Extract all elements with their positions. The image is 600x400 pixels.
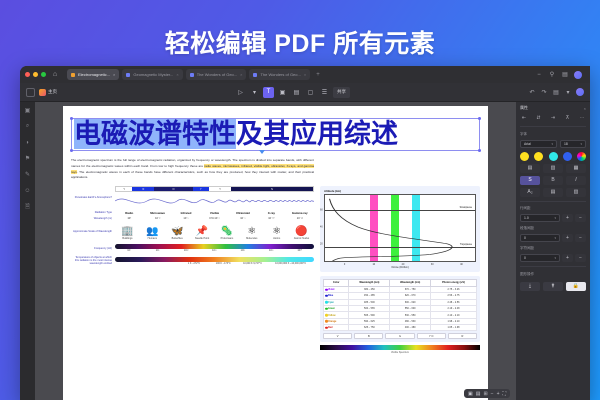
frequency-label: Frequency (Hz)	[71, 247, 115, 250]
radiation-type-row: Radiation Type Radio Microwave Infrared …	[71, 211, 314, 215]
wavelength-label: Wavelength (m)	[71, 217, 115, 220]
color-name: Cyan	[328, 301, 334, 304]
increase-icon[interactable]: +	[562, 234, 573, 242]
radiation-type-label: Radiation Type	[71, 211, 115, 214]
freq-tick: 10²⁰	[286, 249, 314, 252]
color-name: Yellow	[328, 314, 335, 317]
band-name: Microwave	[143, 211, 171, 215]
share-button[interactable]: 共享	[333, 87, 350, 98]
font-section-label: 字体	[520, 132, 586, 137]
new-tab-button[interactable]: +	[313, 72, 323, 78]
wavelength-value: 10⁻⁵	[172, 217, 200, 220]
frequency-row: Frequency (Hz) 10⁴ 10⁸ 10¹² 10¹⁵ 10¹⁶	[71, 244, 314, 252]
color-table: Color Wavelength (nm) Wavelength (nm) Ph…	[323, 279, 477, 331]
increase-icon[interactable]: +	[562, 214, 573, 222]
chevron-down-icon: ▾	[554, 216, 556, 220]
color-name: Violet	[328, 288, 334, 291]
tab-favicon-icon	[126, 73, 130, 77]
legend-chip-blue: B	[354, 333, 383, 339]
scale-name: Buildings	[115, 237, 140, 240]
scale-label: Approximate Scale of Wavelength	[71, 230, 115, 233]
format-row-1: ▤ ▥ ▦	[520, 164, 586, 173]
legend-chip-green: G	[385, 333, 414, 339]
minimize-icon[interactable]: −	[535, 71, 543, 79]
band-name: Gamma ray	[286, 211, 314, 215]
home-icon[interactable]: ⌂	[50, 70, 60, 80]
temp-tick: 10,000,000 K ~10,000,000°C	[267, 262, 314, 265]
search-icon[interactable]: ⌕	[23, 122, 32, 131]
freq-tick: 10⁸	[143, 249, 171, 252]
home-tab-button[interactable]: 主页	[39, 89, 57, 96]
sidebar-toggle-icon[interactable]	[26, 88, 35, 97]
align-justify-icon[interactable]: ⊼	[564, 114, 572, 122]
bookmark-icon[interactable]: ⚑	[23, 154, 32, 163]
line-spacing-label: 段落间距	[520, 226, 586, 231]
scale-name: Atomic Nuclei	[289, 237, 314, 240]
protozoa-icon: 🦠	[215, 227, 240, 237]
swatch-yellow-1[interactable]	[520, 152, 529, 161]
col-header-color: Color	[324, 280, 349, 287]
cell-w2: 400 – 480	[390, 325, 431, 331]
tab-close-icon[interactable]: ×	[240, 72, 242, 77]
para-spacing-stepper: 0▾ + −	[520, 254, 586, 262]
app-window: ⌂ Electromagnetic... × Geomagnetic Myste…	[20, 66, 590, 400]
temp-tick: 10,000 K 9,727°C	[238, 262, 267, 265]
align-right-icon[interactable]: ⇥	[549, 114, 557, 122]
align-right-icon[interactable]: ▦	[566, 164, 586, 173]
window-body: ▣ ⌕ ◗ ⚑ ✎ ☺ 🗎 电磁波谱特性及其应用综述 The electroma…	[20, 102, 590, 400]
tab-favicon-icon	[253, 73, 257, 77]
waveform-graphic	[115, 192, 314, 209]
resize-handle-tr[interactable]	[478, 117, 481, 120]
right-figures: Altitude (km) 60 40 20 Stratopause Tropo…	[320, 186, 480, 354]
titlebar-actions: − ⚲ ▤	[535, 71, 585, 79]
tab-favicon-icon	[190, 73, 194, 77]
zoom-in-icon[interactable]: +	[497, 391, 500, 397]
legend-chip-red: R	[448, 333, 477, 339]
atmos-seg: N	[132, 187, 154, 191]
tab-label: Electromagnetic...	[78, 72, 110, 77]
close-panel-icon[interactable]: ×	[584, 106, 586, 111]
color-swatch-icon	[325, 314, 328, 317]
save-icon[interactable]: ▤	[552, 88, 560, 96]
scale-name: Butterflies	[165, 237, 190, 240]
decrease-icon[interactable]: −	[575, 254, 586, 262]
temp-tick: 1 K −272°C	[179, 262, 208, 265]
band-name: Visible	[200, 211, 228, 215]
text-caret-icon	[259, 150, 265, 154]
select-icon[interactable]: ▤	[476, 391, 481, 397]
divider	[520, 266, 586, 267]
page-indicator[interactable]: ⊞	[483, 391, 487, 397]
temperature-ticks: 1 K −272°C 100 K −173°C 10,000 K 9,727°C…	[115, 262, 314, 265]
freq-tick: 10¹⁶	[229, 249, 257, 252]
band-name: Infrared	[172, 211, 200, 215]
legend-chip-yellow-orange: Y O	[417, 333, 446, 339]
align-toolbar: ⇤ ⇵ ⇥ ⊼ ⋯	[520, 114, 586, 122]
align-left-icon[interactable]: ⇤	[520, 114, 528, 122]
font-family-select[interactable]: Arial▾	[520, 140, 557, 148]
ozone-ytick: 20	[320, 242, 323, 245]
comment-icon[interactable]: ☺	[23, 186, 32, 195]
freq-tick: 10⁴	[115, 249, 143, 252]
wavelength-value: 10⁻⁸	[229, 217, 257, 220]
humans-icon: 👥	[140, 227, 165, 237]
needle-icon: 📌	[190, 227, 215, 237]
swatch-custom-color[interactable]	[577, 152, 586, 161]
format-row-3: A₂ ▤ ▥	[520, 188, 586, 197]
stamp-icon[interactable]: ▤	[291, 87, 302, 98]
redo-icon[interactable]: ↷	[540, 88, 548, 96]
app-logo-icon	[39, 89, 46, 96]
atmosphere-row: Penetrates Earth's Atmosphere? Y N N Y Y…	[71, 186, 314, 209]
ozone-plot: 60 40 20 Stratopause Tropopause	[324, 194, 476, 262]
decrease-icon[interactable]: −	[575, 234, 586, 242]
freq-tick: 10¹⁸	[257, 249, 285, 252]
scale-name: Molecules	[239, 237, 264, 240]
tab-close-icon[interactable]: ×	[176, 72, 178, 77]
temp-tick: 100 K −173°C	[209, 262, 238, 265]
image-edit-icon[interactable]: ▣	[277, 87, 288, 98]
waveform-icon	[115, 192, 314, 209]
ozone-xtick: 30	[418, 263, 447, 266]
page-title: 轻松编辑 PDF 所有元素	[0, 24, 600, 60]
char-spacing-stepper: 1.0▾ + −	[520, 214, 586, 222]
page-controls[interactable]: ▣ ▤ ⊞ − + ⛶	[464, 389, 510, 398]
align-left-icon[interactable]: ▤	[520, 164, 540, 173]
strikethrough-icon[interactable]: S	[520, 176, 540, 185]
increase-icon[interactable]: +	[562, 254, 573, 262]
font-row: Arial▾ 18▾	[520, 140, 586, 148]
attachment-icon[interactable]: 🗎	[23, 202, 32, 211]
tab-close-icon[interactable]: ×	[304, 72, 306, 77]
color-swatch-icon	[325, 326, 328, 329]
panel-title: 属性	[520, 105, 528, 111]
temperature-row: Temperature of objects at which this rad…	[71, 256, 314, 265]
butterfly-icon: 🦋	[165, 227, 190, 237]
divider	[520, 201, 586, 202]
molecule-icon: ⚛	[239, 227, 264, 237]
atmos-seg: Y	[193, 187, 209, 191]
toolbar-right: ↶ ↷ ▤ ▾	[528, 88, 584, 96]
toolbar-left: 主页	[26, 88, 57, 97]
main-toolbar: 主页 ▷ ▾ T ▣ ▤ ▢ ☰ 共享 ↶ ↷ ▤ ▾	[20, 83, 590, 102]
format-row-2: S B I	[520, 176, 586, 185]
ozone-ytick: 40	[320, 225, 323, 228]
ai-icon[interactable]	[576, 88, 584, 96]
font-size-select[interactable]: 18▾	[560, 140, 586, 148]
atmos-seg: N	[154, 187, 192, 191]
resize-handle-bl[interactable]	[70, 149, 73, 152]
char-spacing-label: 行间距	[520, 206, 586, 211]
pages-icon[interactable]: ◗	[23, 138, 32, 147]
color-swatch-icon	[325, 320, 328, 323]
filter-icon[interactable]: ⚵	[543, 282, 563, 291]
chevron-down-icon[interactable]: ▾	[564, 88, 572, 96]
italic-icon[interactable]: I	[566, 176, 586, 185]
paragraph-part2: . The electromagnetic waves in each of t…	[71, 170, 314, 180]
col-header-energy: Photon energy (eV)	[431, 280, 477, 287]
ozone-xtick: 10	[359, 263, 388, 266]
undo-icon[interactable]: ↶	[528, 88, 536, 96]
color-name: Blue	[328, 294, 333, 297]
atom-icon: ⚛	[264, 227, 289, 237]
color-swatch-row	[520, 152, 586, 161]
divider	[520, 126, 586, 127]
line-spacing-stepper: 0▾ + −	[520, 234, 586, 242]
lock-icon[interactable]: 🔒	[566, 282, 586, 291]
align-center-icon[interactable]: ⇵	[535, 114, 543, 122]
outdent-icon[interactable]: ▥	[566, 188, 586, 197]
char-spacing-value[interactable]: 1.0▾	[520, 214, 560, 222]
chevron-down-icon: ▾	[554, 256, 556, 260]
fit-icon[interactable]: ▣	[468, 391, 473, 397]
color-swatch-icon	[325, 307, 328, 310]
resize-handle-br[interactable]	[478, 149, 481, 152]
color-swatch-icon	[325, 288, 328, 291]
swatch-blue[interactable]	[563, 152, 572, 161]
tab-favicon-icon	[71, 73, 75, 77]
tab-3[interactable]: The Wonders of Geo... ×	[249, 69, 310, 80]
chevron-down-icon: ▾	[580, 142, 582, 146]
band-name: X-ray	[257, 211, 285, 215]
wavelength-values: 10³ 10⁻² 10⁻⁵ 0.5×10⁻⁶ 10⁻⁸ 10⁻¹⁰ 10⁻¹²	[115, 217, 314, 220]
page-icon[interactable]: ▢	[305, 87, 316, 98]
freq-tick: 10¹⁵	[200, 249, 228, 252]
tab-label: The Wonders of Geo...	[260, 72, 300, 77]
document-paragraph[interactable]: The electromagnetic spectrum is the full…	[71, 158, 314, 181]
list-icon[interactable]: ☰	[319, 87, 330, 98]
wavelength-row: Wavelength (m) 10³ 10⁻² 10⁻⁵ 0.5×10⁻⁶ 10…	[71, 217, 314, 220]
toolbar-center: ▷ ▾ T ▣ ▤ ▢ ☰ 共享	[235, 87, 350, 98]
atmos-seg: N	[231, 187, 313, 191]
subscript-icon[interactable]: A₂	[520, 188, 540, 197]
visible-spectrum-caption: Visible Spectrum	[320, 351, 480, 354]
cell-w1: 625 – 750	[349, 325, 390, 331]
color-name: Red	[328, 326, 333, 329]
document-title-selection[interactable]: 电磁波谱特性及其应用综述	[71, 118, 480, 151]
scale-name-list: Buildings Humans Butterflies Needle Poin…	[115, 237, 314, 240]
window-controls[interactable]	[25, 72, 46, 77]
panel-header: 属性 ×	[520, 105, 586, 111]
spectrum-legend-tools: V B G Y O R	[323, 333, 477, 339]
ozone-xtick: 40	[447, 263, 476, 266]
indent-icon[interactable]: ▤	[543, 188, 563, 197]
home-tab-label: 主页	[48, 89, 57, 95]
maximize-window-icon[interactable]	[41, 72, 46, 77]
close-window-icon[interactable]	[25, 72, 30, 77]
align-center-icon[interactable]: ▥	[543, 164, 563, 173]
swatch-cyan[interactable]	[549, 152, 558, 161]
atmos-seg: Y	[209, 187, 231, 191]
tab-label: The Wonders of Geo...	[197, 72, 237, 77]
ops-section-label: 图形操作	[520, 272, 586, 277]
ops-actions: ⤓ ⚵ 🔒	[520, 282, 586, 291]
color-name: Orange	[328, 320, 336, 323]
left-rail: ▣ ⌕ ◗ ⚑ ✎ ☺ 🗎	[20, 102, 35, 400]
edit-pen-icon[interactable]: ✎	[23, 170, 32, 179]
table-row: Red 625 – 750 400 – 480 1.65 – 1.98	[324, 325, 477, 331]
title-selected-text: 电磁波谱特性	[74, 119, 236, 149]
line-spacing-value[interactable]: 0▾	[520, 234, 560, 242]
titlebar: ⌂ Electromagnetic... × Geomagnetic Myste…	[20, 66, 590, 83]
tab-2[interactable]: The Wonders of Geo... ×	[186, 69, 247, 80]
minimize-window-icon[interactable]	[33, 72, 38, 77]
frequency-ticks: 10⁴ 10⁸ 10¹² 10¹⁵ 10¹⁶ 10¹⁸ 10²⁰	[115, 249, 314, 252]
table-header-row: Color Wavelength (nm) Wavelength (nm) Ph…	[324, 280, 477, 287]
freq-tick: 10¹²	[172, 249, 200, 252]
properties-panel: 属性 × ⇤ ⇵ ⇥ ⊼ ⋯ 字体 Arial▾ 18▾	[516, 102, 590, 400]
col-header-w1: Wavelength (nm)	[349, 280, 390, 287]
scale-icon-list: 🏢 👥 🦋 📌 🦠 ⚛ ⚛ 🔴	[115, 222, 314, 237]
pointer-icon[interactable]: ▷	[235, 87, 246, 98]
resize-handle-tl[interactable]	[70, 117, 73, 120]
swatch-yellow-2[interactable]	[534, 152, 543, 161]
thumbnail-icon[interactable]: ▣	[23, 106, 32, 115]
pdf-page[interactable]: 电磁波谱特性及其应用综述 The electromagnetic spectru…	[63, 106, 488, 400]
font-size-value: 18	[564, 142, 568, 146]
wavelength-value: 10⁻¹⁰	[257, 217, 285, 220]
bold-icon[interactable]: B	[543, 176, 563, 185]
color-swatch-icon	[325, 301, 328, 304]
para-spacing-value[interactable]: 0▾	[520, 254, 560, 262]
color-name: Green	[328, 307, 335, 310]
scale-name: Needle Point	[190, 237, 215, 240]
document-title[interactable]: 电磁波谱特性及其应用综述	[74, 120, 477, 149]
color-swatch-icon	[325, 295, 328, 298]
wavelength-value: 10⁻¹²	[286, 217, 314, 220]
buildings-icon: 🏢	[115, 227, 140, 237]
ozone-xlabel: Ozone (DU/km)	[324, 266, 476, 269]
scale-name: Protozoans	[215, 237, 240, 240]
tab-strip[interactable]: Electromagnetic... × Geomagnetic Myster.…	[67, 69, 531, 80]
visible-spectrum-bar	[320, 345, 480, 350]
download-icon[interactable]: ⤓	[520, 282, 540, 291]
temperature-label: Temperature of objects at which this rad…	[71, 256, 115, 265]
ozone-ytick: 60	[320, 208, 323, 211]
content-columns: Penetrates Earth's Atmosphere? Y N N Y Y…	[71, 186, 480, 354]
para-spacing-label: 字符间距	[520, 246, 586, 251]
layout-icon[interactable]: ▤	[561, 71, 569, 79]
text-edit-icon[interactable]: T	[263, 87, 274, 98]
decrease-icon[interactable]: −	[575, 214, 586, 222]
nucleus-icon: 🔴	[289, 227, 314, 237]
spectrum-figure: Penetrates Earth's Atmosphere? Y N N Y Y…	[71, 186, 314, 354]
ozone-xtick: 0	[330, 263, 359, 266]
chevron-down-icon: ▾	[554, 236, 556, 240]
zoom-out-icon[interactable]: −	[491, 391, 494, 397]
atmos-seg: Y	[116, 187, 132, 191]
cell-energy: 1.65 – 1.98	[431, 325, 477, 331]
wavelength-value: 10³	[115, 217, 143, 220]
tab-1[interactable]: Geomagnetic Myster... ×	[122, 69, 182, 80]
wavelength-value: 10⁻²	[143, 217, 171, 220]
tab-label: Geomagnetic Myster...	[133, 72, 173, 77]
color-table-card: Color Wavelength (nm) Wavelength (nm) Ph…	[320, 276, 480, 342]
tab-close-icon[interactable]: ×	[113, 72, 115, 77]
more-icon[interactable]: ⋯	[578, 114, 586, 122]
col-header-w2: Wavelength (nm)	[390, 280, 431, 287]
scale-row: Approximate Scale of Wavelength 🏢 👥 🦋 📌 …	[71, 222, 314, 240]
ozone-chart-title: Altitude (km)	[324, 189, 476, 193]
account-avatar[interactable]	[574, 71, 582, 79]
scale-name: Humans	[140, 237, 165, 240]
tab-0[interactable]: Electromagnetic... ×	[67, 69, 119, 80]
fullscreen-icon[interactable]: ⛶	[502, 391, 506, 397]
ozone-chart-card: Altitude (km) 60 40 20 Stratopause Tropo…	[320, 186, 480, 272]
legend-chip-violet: V	[323, 333, 352, 339]
band-name: Radio	[115, 211, 143, 215]
chevron-down-icon: ▾	[551, 142, 553, 146]
band-name: Ultraviolet	[229, 211, 257, 215]
wavelength-value: 0.5×10⁻⁶	[200, 217, 228, 220]
chevron-down-icon[interactable]: ▾	[249, 87, 260, 98]
ozone-curve-icon	[325, 195, 475, 261]
title-rest-text: 及其应用综述	[236, 119, 398, 149]
band-name-list: Radio Microwave Infrared Visible Ultravi…	[115, 211, 314, 215]
scale-name: Atoms	[264, 237, 289, 240]
notification-icon[interactable]: ⚲	[548, 71, 556, 79]
atmosphere-label: Penetrates Earth's Atmosphere?	[71, 196, 115, 199]
document-canvas[interactable]: 电磁波谱特性及其应用综述 The electromagnetic spectru…	[35, 102, 516, 400]
font-family-value: Arial	[524, 142, 531, 146]
frequency-gradient-bar	[115, 244, 314, 249]
